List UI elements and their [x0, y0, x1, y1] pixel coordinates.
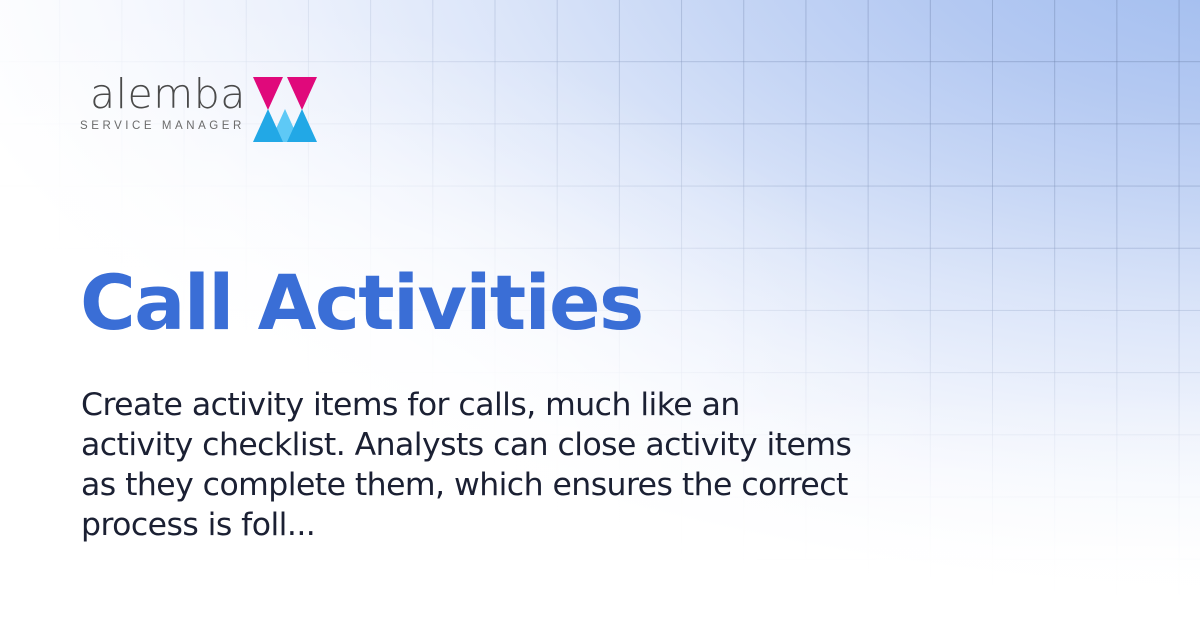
- description-line: as they complete them, which ensures the…: [81, 465, 891, 505]
- alemba-x-mark-icon: [253, 76, 317, 148]
- page-description: Create activity items for calls, much li…: [81, 385, 891, 545]
- logo-text-block: alemba SERVICE MANAGER: [80, 70, 246, 132]
- description-line: activity checklist. Analysts can close a…: [81, 425, 891, 465]
- page-title: Call Activities: [80, 263, 643, 343]
- logo-tagline: SERVICE MANAGER: [80, 120, 245, 132]
- description-line: process is foll...: [81, 505, 891, 545]
- logo-wordmark: alemba: [90, 74, 246, 116]
- description-line: Create activity items for calls, much li…: [81, 385, 891, 425]
- alemba-service-manager-logo[interactable]: alemba SERVICE MANAGER: [80, 70, 317, 148]
- social-share-card: alemba SERVICE MANAGER Call Activities C…: [0, 0, 1200, 630]
